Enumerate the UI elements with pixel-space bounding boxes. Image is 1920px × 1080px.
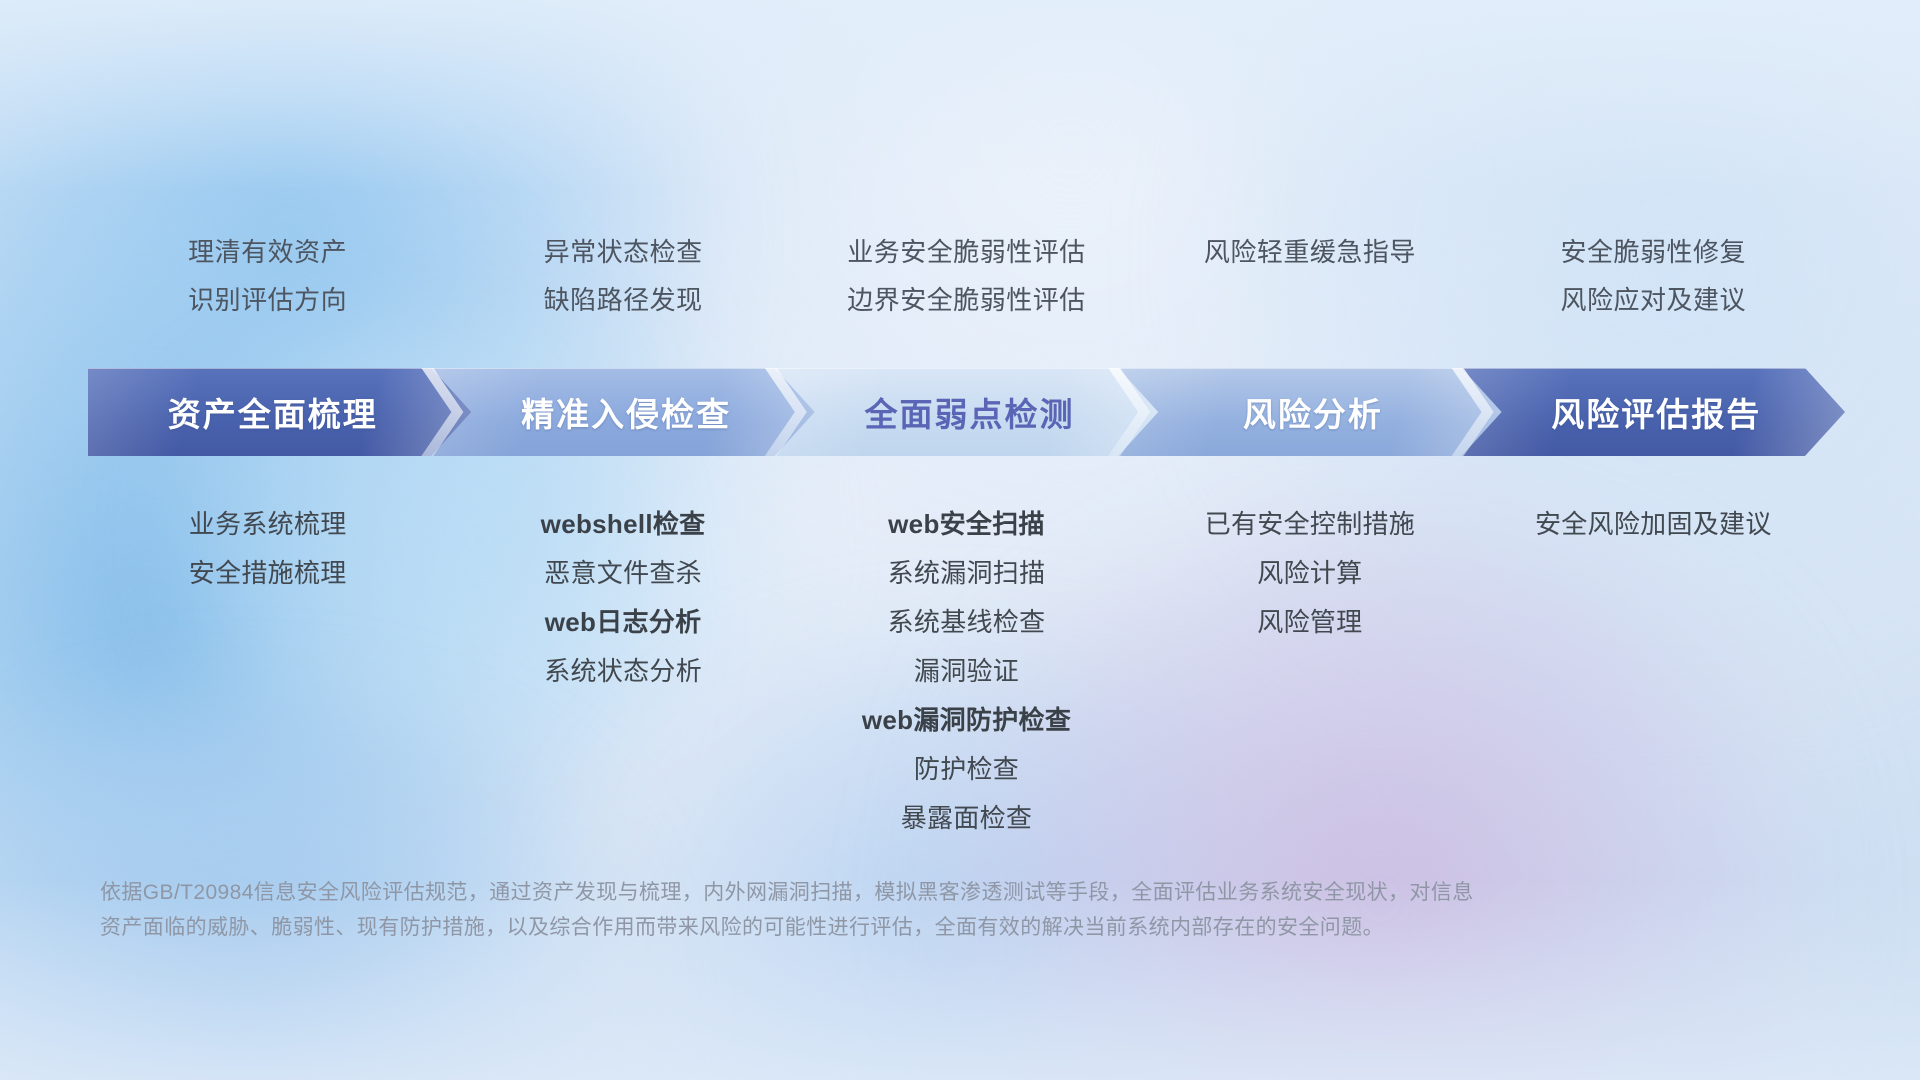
chevron-label: 精准入侵检查 xyxy=(521,388,731,436)
bottom-detail-item: 风险管理 xyxy=(1090,598,1530,647)
top-annotation-item: 安全脆弱性修复 xyxy=(1433,228,1873,276)
bottom-detail-item: 暴露面检查 xyxy=(747,794,1187,843)
bottom-detail-item: 漏洞验证 xyxy=(747,647,1187,696)
chevron-label: 风险评估报告 xyxy=(1551,388,1761,436)
chevron-label: 风险分析 xyxy=(1243,388,1383,436)
footer-line-1: 依据GB/T20984信息安全风险评估规范，通过资产发现与梳理，内外网漏洞扫描，… xyxy=(100,875,1740,910)
top-annotation-group-assessment-report: 安全脆弱性修复风险应对及建议 xyxy=(1433,228,1873,324)
chevron-stage-risk-analysis[interactable]: 风险分析 xyxy=(1118,368,1501,456)
bottom-detail-item: web漏洞防护检查 xyxy=(747,696,1187,745)
top-annotations-row: 理清有效资产识别评估方向异常状态检查缺陷路径发现业务安全脆弱性评估边界安全脆弱性… xyxy=(0,228,1920,338)
process-chevron-band: 资产全面梳理精准入侵检查全面弱点检测风险分析风险评估报告 xyxy=(88,368,1845,456)
chevron-stage-asset-inventory[interactable]: 资产全面梳理 xyxy=(88,368,471,456)
footer-line-2: 资产面临的威胁、脆弱性、现有防护措施，以及综合作用而带来风险的可能性进行评估，全… xyxy=(100,910,1740,945)
top-annotation-item: 风险应对及建议 xyxy=(1433,276,1873,324)
footer-description: 依据GB/T20984信息安全风险评估规范，通过资产发现与梳理，内外网漏洞扫描，… xyxy=(100,875,1740,945)
top-annotation-item: 边界安全脆弱性评估 xyxy=(747,276,1187,324)
chevron-stage-weakness-detection[interactable]: 全面弱点检测 xyxy=(775,368,1158,456)
chevron-label: 全面弱点检测 xyxy=(864,388,1074,436)
chevron-stage-intrusion-check[interactable]: 精准入侵检查 xyxy=(431,368,814,456)
chevron-label: 资产全面梳理 xyxy=(168,388,378,436)
bottom-detail-item: 风险计算 xyxy=(1090,549,1530,598)
bottom-detail-item: 防护检查 xyxy=(747,745,1187,794)
bottom-detail-group-assessment-report: 安全风险加固及建议 xyxy=(1433,500,1873,549)
chevron-stage-assessment-report[interactable]: 风险评估报告 xyxy=(1462,368,1845,456)
bottom-detail-item: 安全风险加固及建议 xyxy=(1433,500,1873,549)
